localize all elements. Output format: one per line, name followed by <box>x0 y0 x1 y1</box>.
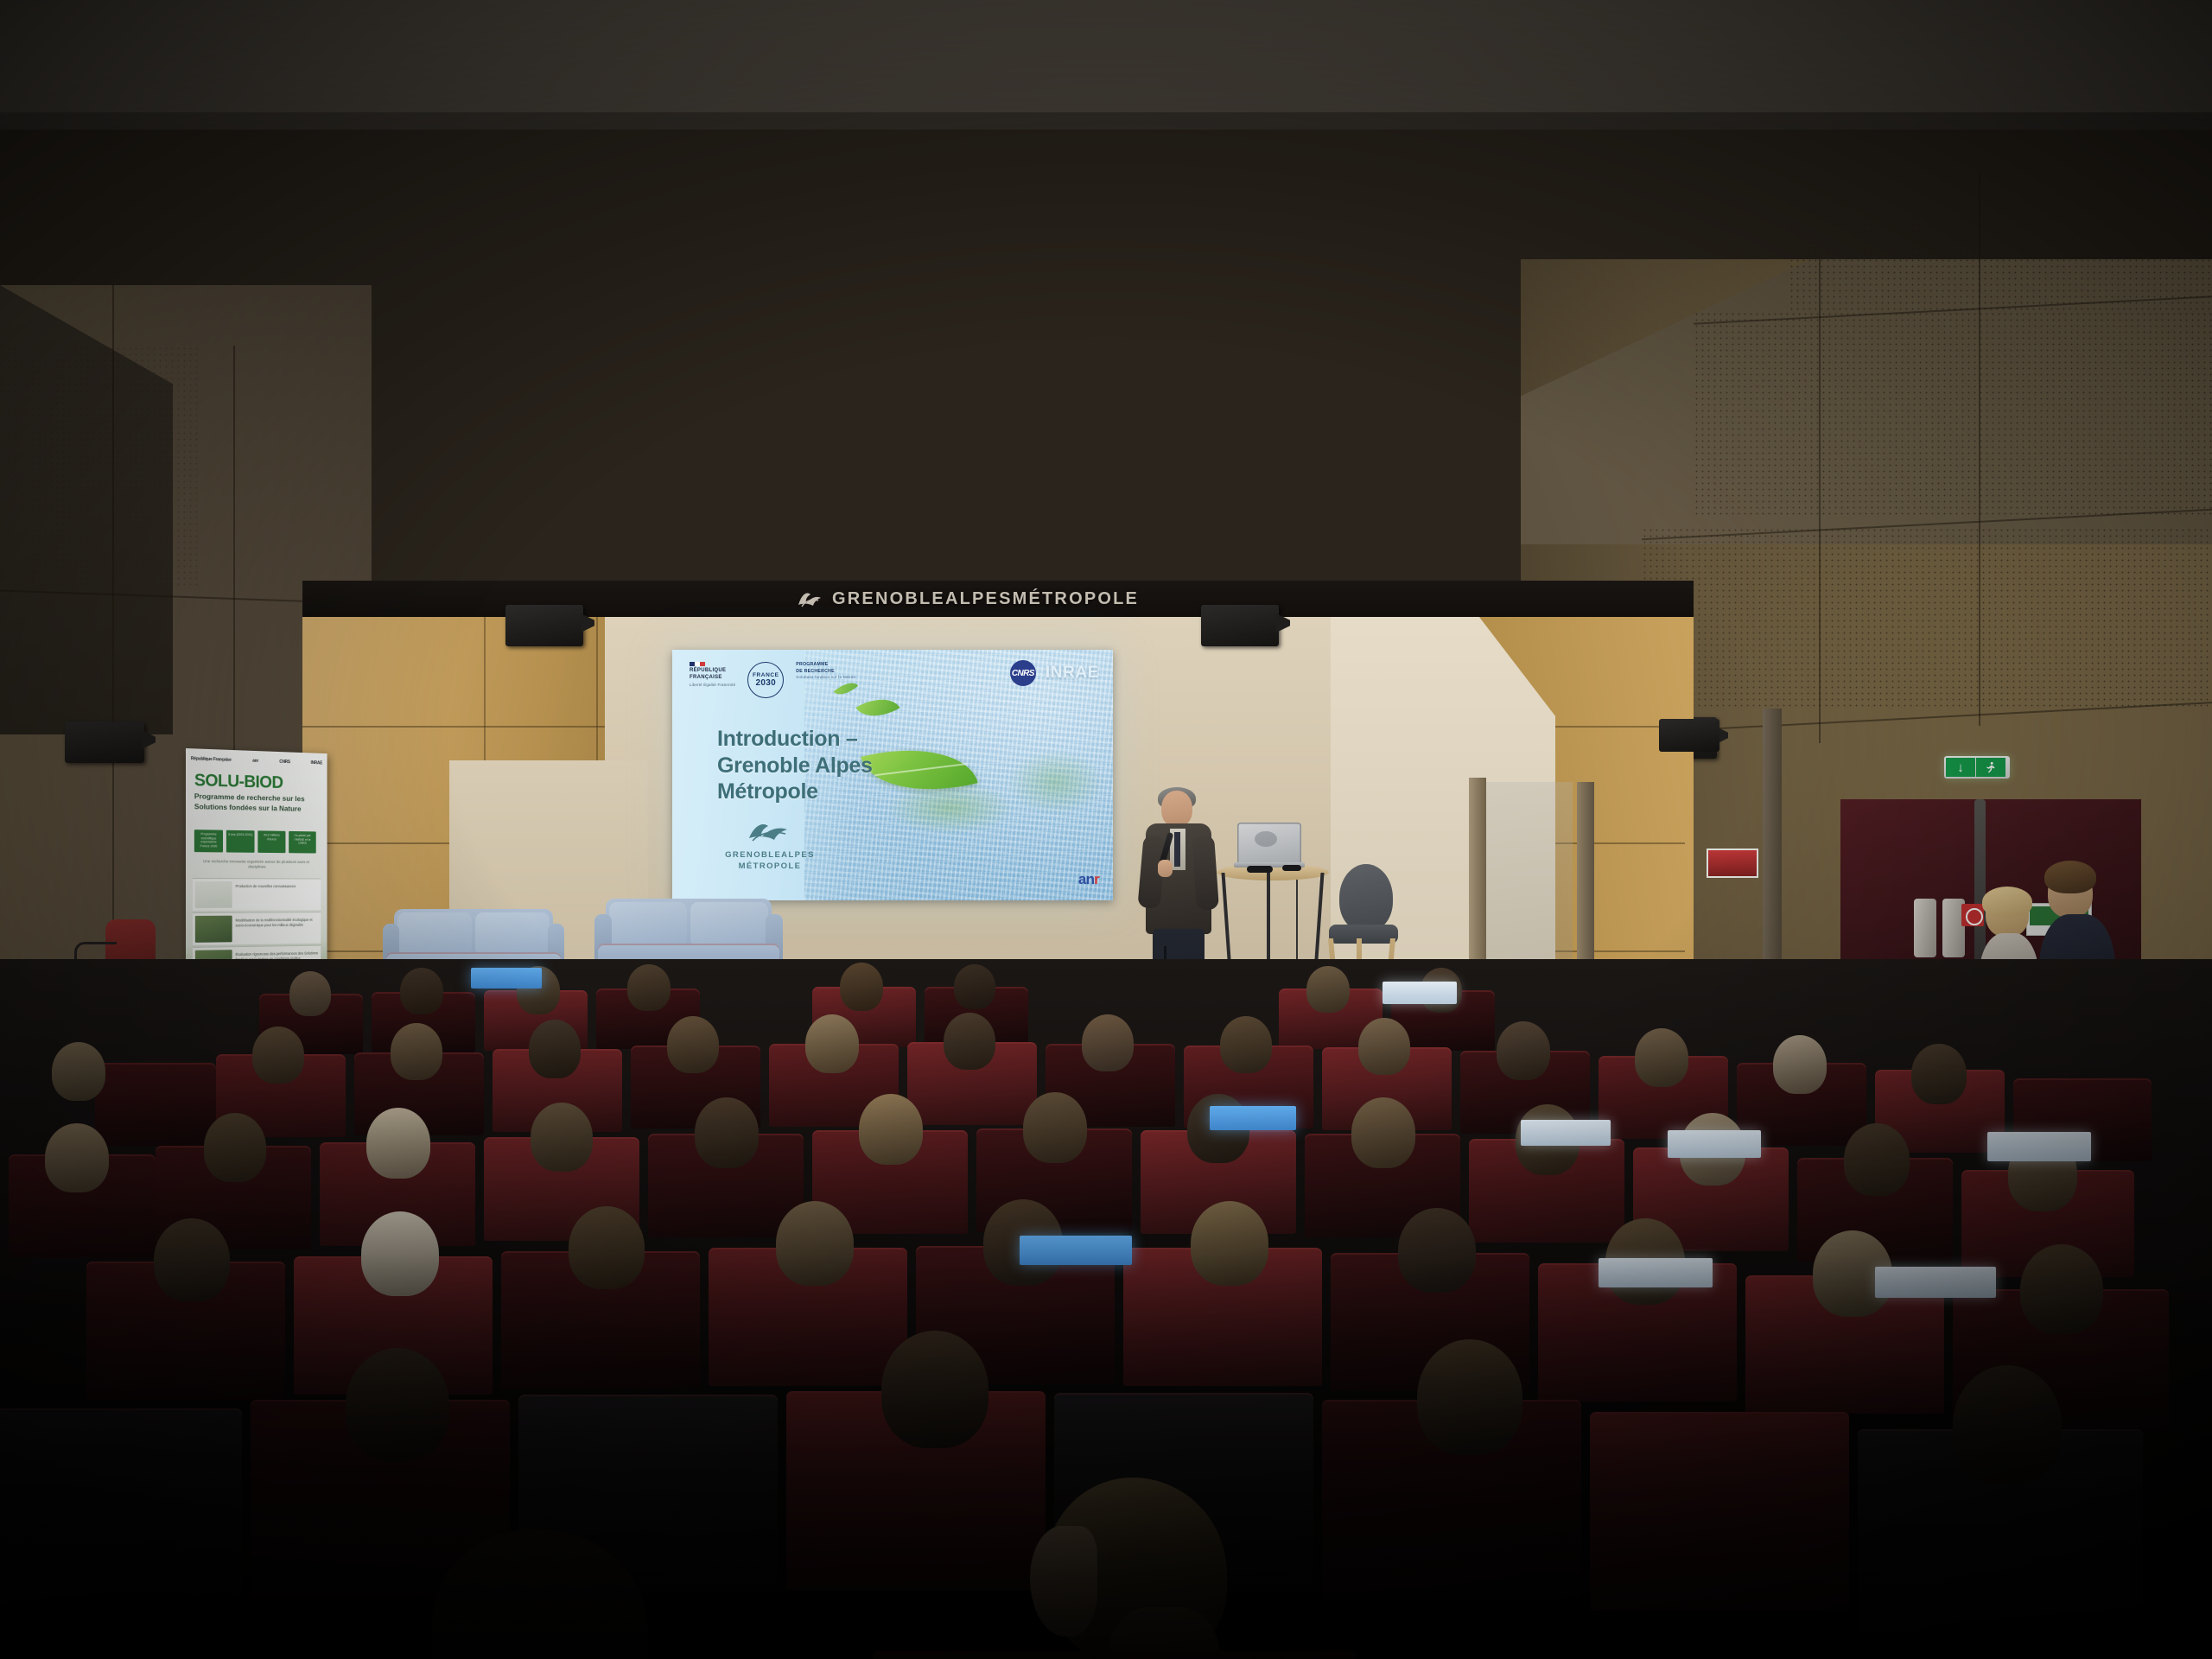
audience-head <box>776 1201 854 1286</box>
audience-head <box>531 1103 593 1172</box>
banner-row-icon <box>195 881 232 908</box>
audience-head <box>1082 1014 1134 1071</box>
presenter-tie <box>1174 832 1180 867</box>
pgm-line2: DE RECHERCHE <box>796 669 855 676</box>
presenter-arm-right <box>1192 835 1219 911</box>
banner-logo-rf: République Française <box>191 756 232 763</box>
anr-label-b: r <box>1094 871 1099 887</box>
audience-head <box>1773 1035 1827 1094</box>
audience-head <box>204 1113 266 1182</box>
panel-seam <box>1979 173 1980 726</box>
banner-stat-box: Co-piloté par l'INRAE et le CNRS <box>289 831 316 854</box>
audience-head <box>45 1123 109 1192</box>
audience-head <box>859 1094 923 1165</box>
audience-laptop-screen[interactable] <box>1020 1236 1132 1265</box>
presentation-slide: RÉPUBLIQUE FRANÇAISE Liberté Égalité Fra… <box>672 650 1113 900</box>
banner-stat-box: 44,2 millions d'euros <box>257 830 285 853</box>
rf-line2: FRANÇAISE <box>690 675 735 682</box>
audience-head <box>1497 1021 1550 1080</box>
banner-logo-anr: anr <box>252 759 258 764</box>
door-push-bar[interactable] <box>1914 899 1936 957</box>
presentation-clicker[interactable] <box>1247 866 1273 873</box>
exit-arrow-down-icon: ↓ <box>1946 758 1975 777</box>
ceiling-projector <box>1659 719 1719 752</box>
presenter-laptop[interactable] <box>1234 823 1305 871</box>
audience-head <box>1417 1339 1522 1455</box>
running-person-icon <box>1976 758 2005 777</box>
audience-head <box>252 1027 304 1084</box>
banner-stat-boxes: Programme scientifique exploratoire Fran… <box>194 829 316 853</box>
slide-title-line3: Métropole <box>717 779 899 805</box>
audience-head <box>391 1023 442 1080</box>
anr-logo: anr <box>1078 871 1099 888</box>
inrae-logo: INRAE <box>1046 664 1099 683</box>
presenter-head <box>1161 791 1192 827</box>
slide-logos-top-left: RÉPUBLIQUE FRANÇAISE Liberté Égalité Fra… <box>690 662 855 698</box>
banner-subtitle: Programme de recherche sur les Solutions… <box>194 791 316 814</box>
audience-laptop-screen[interactable] <box>471 968 542 988</box>
audience-head <box>1844 1123 1910 1196</box>
foreground-attendee <box>1011 1478 1305 1659</box>
running-person-glyph <box>1986 761 1996 773</box>
audience-head <box>1191 1201 1268 1286</box>
audience-head <box>1351 1097 1415 1168</box>
audience-head <box>667 1016 719 1073</box>
republique-francaise-logo: RÉPUBLIQUE FRANÇAISE Liberté Égalité Fra… <box>690 662 735 688</box>
wall-speaker-left <box>505 605 583 646</box>
laptop-badge <box>1255 831 1277 847</box>
gam-bird-mark-icon <box>744 819 796 843</box>
audience-head <box>1398 1208 1476 1293</box>
wall-notice-red <box>1707 849 1758 878</box>
auditorium-photo: GRENOBLEALPESMÉTROPOLE RÉPUBLIQUE FRANÇA… <box>0 0 2212 1659</box>
audience-head <box>289 971 331 1016</box>
audience-laptop-screen[interactable] <box>1668 1130 1761 1158</box>
banner-title: SOLU-BIOD <box>194 771 283 793</box>
audience-seat[interactable] <box>1590 1412 1849 1611</box>
wall-speaker-right <box>1201 605 1279 646</box>
audience-head <box>154 1218 230 1301</box>
audience-head <box>1306 966 1350 1013</box>
banner-row-photo <box>195 916 232 943</box>
audience-head <box>569 1206 645 1289</box>
audience-head <box>52 1042 105 1101</box>
acoustic-perforated-panel <box>1789 173 2212 311</box>
audience-head <box>695 1097 759 1168</box>
venue-sign: GRENOBLEALPESMÉTROPOLE <box>795 586 1139 612</box>
audience-seat-front[interactable] <box>873 1650 1357 1659</box>
banner-note: Une recherche innovante organisée autour… <box>196 859 316 871</box>
audience-head <box>1635 1028 1688 1087</box>
banner-row-text: Modélisation de la multifonctionnalité é… <box>236 915 319 942</box>
audience-head <box>954 964 995 1009</box>
audience-laptop-screen[interactable] <box>1382 982 1457 1004</box>
acoustic-perforated-panel <box>0 346 199 588</box>
banner-logo-strip: République Française anr CNRS INRAE <box>191 753 322 769</box>
banner-row: Production de nouvelles connaissances <box>193 878 321 911</box>
audience-head <box>1023 1092 1087 1163</box>
audience-laptop-screen[interactable] <box>1875 1267 1996 1298</box>
panel-seam <box>112 285 114 1002</box>
banner-logo-cnrs: CNRS <box>279 760 290 765</box>
audience-head <box>881 1331 988 1448</box>
anr-label-a: an <box>1078 871 1094 887</box>
audience-area <box>0 959 2212 1659</box>
audience-seat[interactable] <box>0 1408 242 1607</box>
pgm-line1: PROGRAMME <box>796 662 855 669</box>
venue-sign-label: GRENOBLEALPESMÉTROPOLE <box>832 589 1139 609</box>
panel-seam <box>1819 259 1821 743</box>
rf-line1: RÉPUBLIQUE <box>690 668 735 675</box>
audience-laptop-screen[interactable] <box>1210 1106 1296 1130</box>
audience-head <box>361 1211 439 1296</box>
person-hair <box>1982 887 2032 918</box>
foreground-attendee <box>432 1529 657 1659</box>
audience-laptop-screen[interactable] <box>1599 1258 1713 1287</box>
presenter-hand <box>1158 860 1173 877</box>
france-2030-year: 2030 <box>756 679 776 688</box>
grenoble-alpes-metropole-mark-icon <box>795 588 824 609</box>
person-hair <box>2044 861 2096 893</box>
attendee-hair <box>432 1529 648 1659</box>
banner-stat-box: 8 ans (2023-2031) <box>226 830 255 853</box>
audience-head <box>1911 1044 1967 1104</box>
audience-head <box>1220 1016 1272 1073</box>
emergency-exit-sign: ↓ <box>1944 756 2010 779</box>
rf-motto: Liberté Égalité Fraternité <box>690 683 735 688</box>
gam-line1: GRENOBLEALPES <box>722 850 817 861</box>
attendee-face <box>1030 1526 1097 1637</box>
audience-head <box>529 1020 581 1078</box>
banner-logo-inrae: INRAE <box>311 760 322 766</box>
grenoble-alpes-metropole-logo: GRENOBLEALPES MÉTROPOLE <box>722 819 817 873</box>
slide-title: Introduction – Grenoble Alpes Métropole <box>717 726 899 805</box>
spare-microphone[interactable] <box>1282 865 1301 871</box>
projection-screen: RÉPUBLIQUE FRANÇAISE Liberté Égalité Fra… <box>672 650 1113 900</box>
audience-head <box>805 1014 859 1073</box>
audience-head <box>400 968 443 1014</box>
french-flag-icon <box>690 662 705 666</box>
wall-speaker <box>65 721 144 763</box>
audience-head <box>2020 1244 2103 1334</box>
banner-row-text: Production de nouvelles connaissances <box>236 881 319 908</box>
pgm-sub: Solutions fondées sur la Nature <box>796 675 855 680</box>
slide-title-line1: Introduction – <box>717 726 899 753</box>
audience-head <box>944 1013 995 1070</box>
france-2030-logo: FRANCE 2030 <box>747 662 784 698</box>
audience-head <box>1953 1365 2062 1484</box>
slide-logos-top-right: CNRS INRAE <box>1010 660 1099 686</box>
ceiling-upper-slab <box>0 0 2212 112</box>
audience-seat[interactable] <box>95 1063 216 1146</box>
banner-stat-box: Programme scientifique exploratoire Fran… <box>194 829 223 852</box>
banner-row: Modélisation de la multifonctionnalité é… <box>193 912 321 945</box>
slide-title-line2: Grenoble Alpes <box>717 753 899 779</box>
audience-head <box>627 964 671 1011</box>
acoustic-perforated-panel <box>1694 311 2212 518</box>
acoustic-perforated-panel <box>1642 527 2212 709</box>
audience-laptop-screen[interactable] <box>1521 1120 1611 1146</box>
gam-line2: MÉTROPOLE <box>722 861 817 873</box>
audience-head <box>366 1108 430 1179</box>
programme-de-recherche-logo: PROGRAMME DE RECHERCHE Solutions fondées… <box>796 662 855 680</box>
audience-head <box>840 963 883 1011</box>
audience-head <box>1358 1018 1410 1075</box>
cnrs-logo: CNRS <box>1010 660 1036 686</box>
audience-laptop-screen[interactable] <box>1987 1132 2091 1161</box>
audience-head <box>346 1348 449 1462</box>
